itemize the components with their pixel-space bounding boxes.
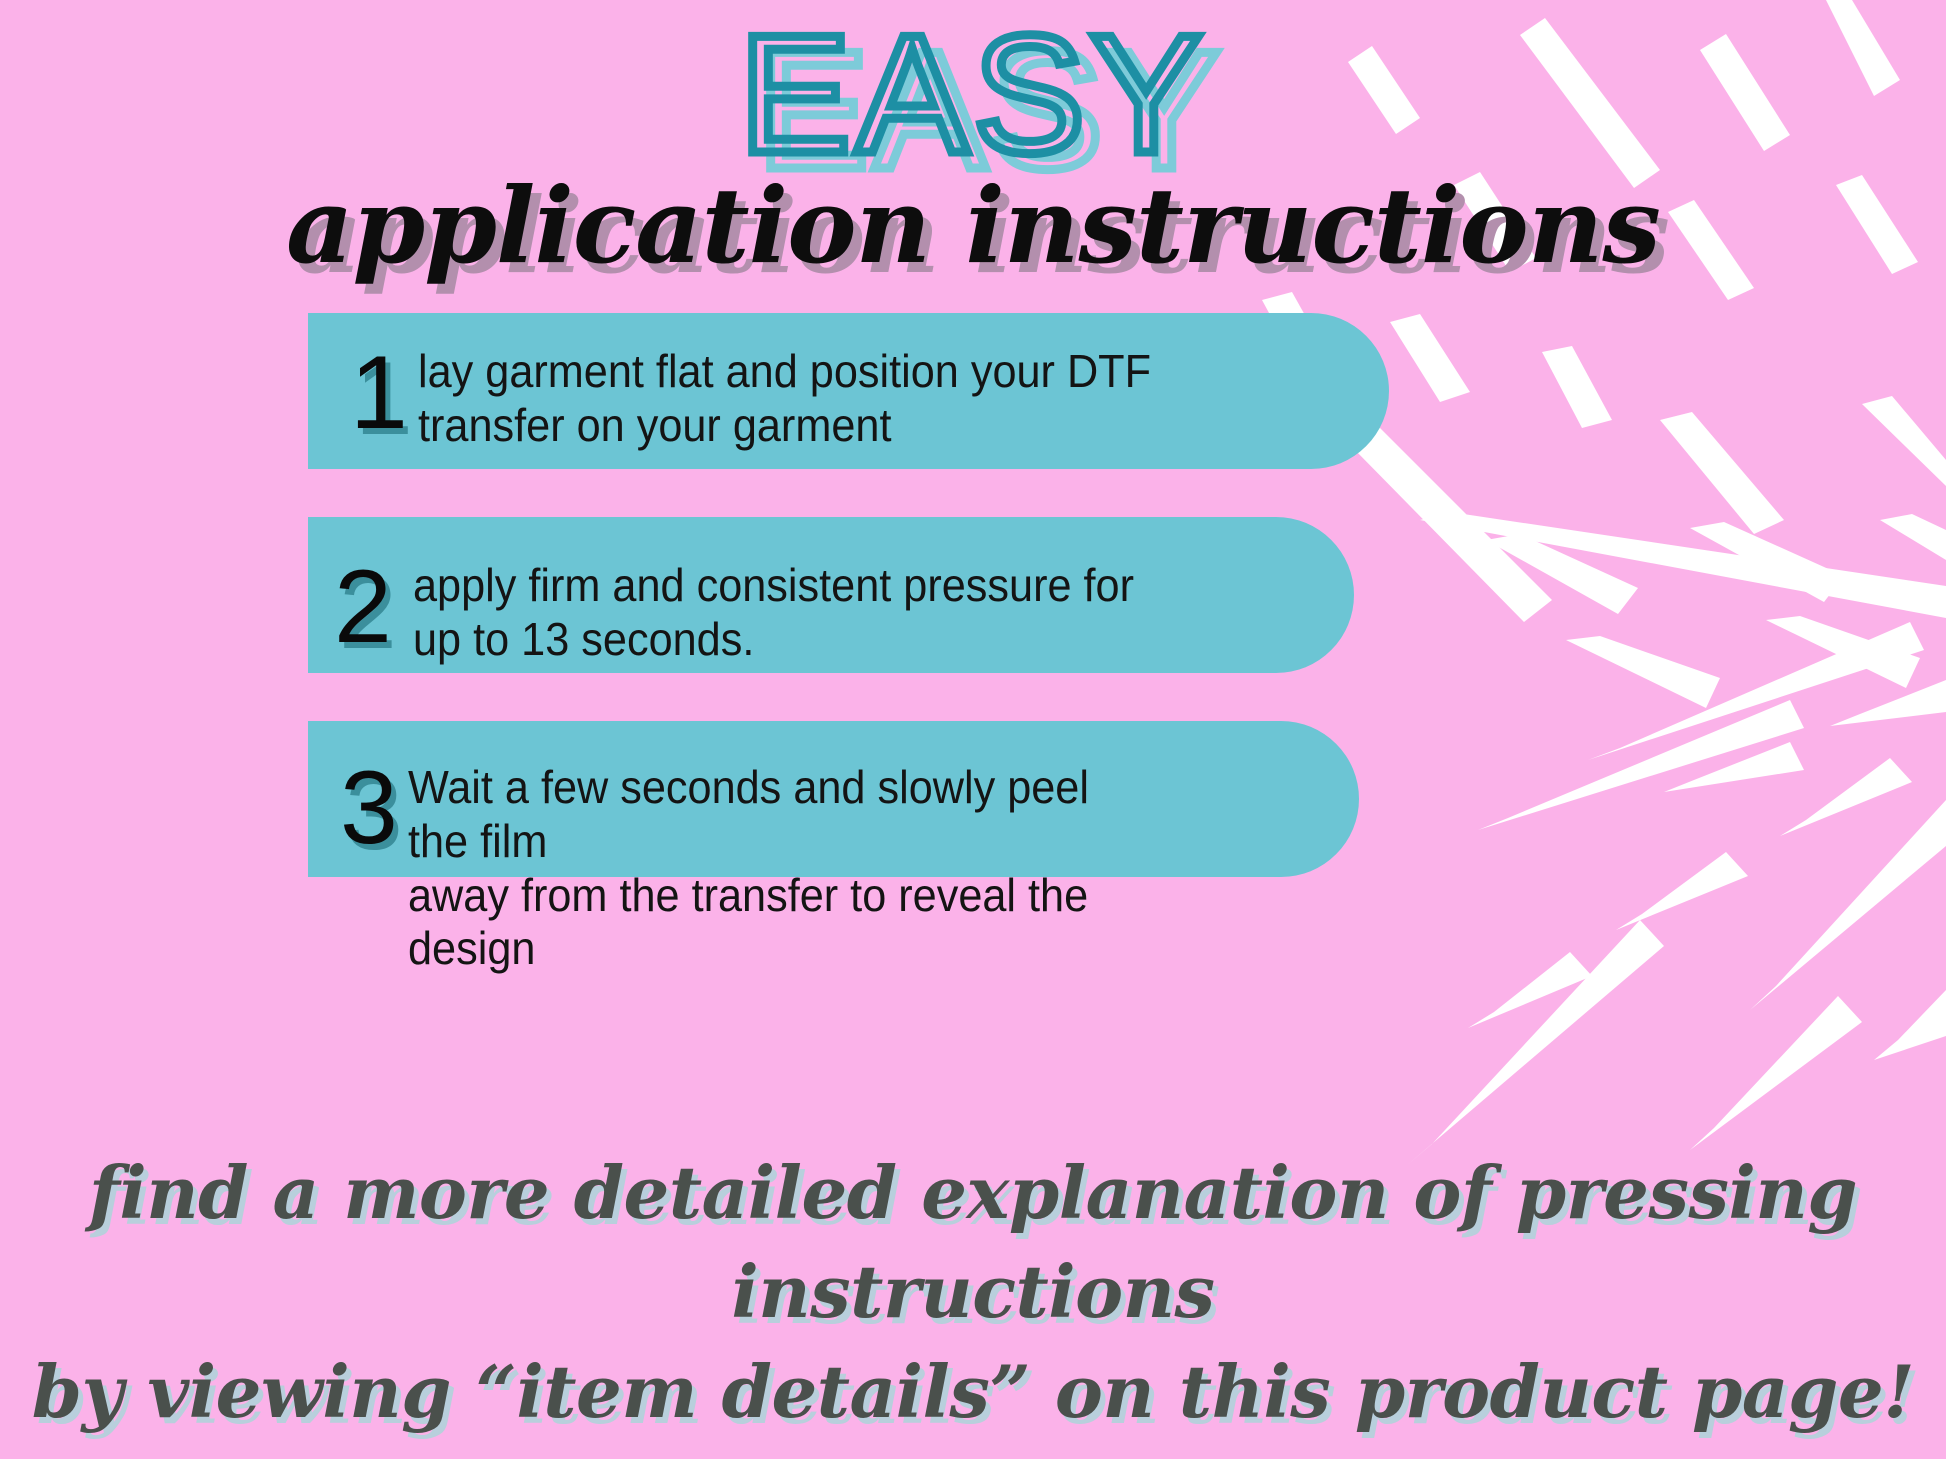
- step-3-number: 3: [340, 756, 398, 860]
- step-1-number: 1: [350, 341, 408, 445]
- page-title: EASY: [0, 10, 1946, 178]
- footer-note: find a more detailed explanation of pres…: [0, 1143, 1946, 1441]
- step-3-text: Wait a few seconds and slowly peel the f…: [408, 761, 1155, 976]
- poster-canvas: EASY EASY application instructions 1 lay…: [0, 0, 1946, 1459]
- step-2-rounded-cap: [1198, 517, 1354, 673]
- step-2-text: apply firm and consistent pressure for u…: [413, 559, 1134, 667]
- footer-line-2: by viewing “item details” on this produc…: [0, 1342, 1946, 1441]
- step-item-2: 2 apply firm and consistent pressure for…: [308, 517, 1198, 673]
- steps-list: 1 lay garment flat and position your DTF…: [308, 313, 1908, 925]
- subtitle-container: application instructions: [0, 168, 1946, 284]
- step-item-1: 1 lay garment flat and position your DTF…: [308, 313, 1233, 469]
- step-1-rounded-cap: [1233, 313, 1389, 469]
- page-subtitle: application instructions: [286, 168, 1660, 284]
- step-3-rounded-cap: [1203, 721, 1359, 877]
- step-1-text: lay garment flat and position your DTF t…: [418, 345, 1151, 453]
- step-item-3: 3 Wait a few seconds and slowly peel the…: [308, 721, 1203, 877]
- step-2-number: 2: [334, 555, 392, 659]
- footer-line-1: find a more detailed explanation of pres…: [0, 1143, 1946, 1342]
